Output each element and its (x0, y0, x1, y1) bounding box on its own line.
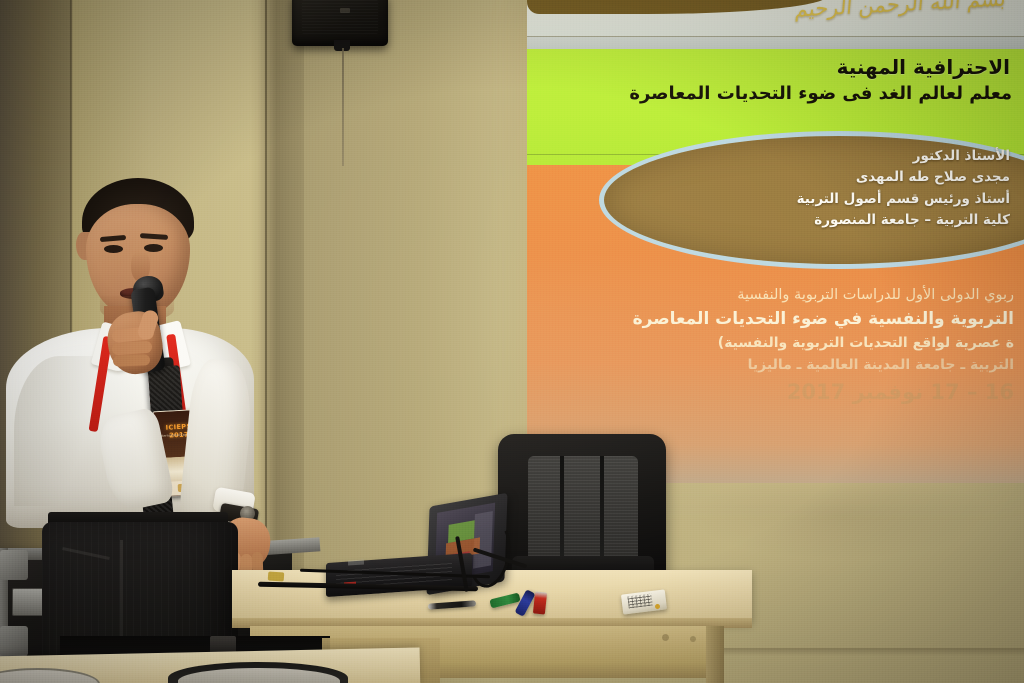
conference-banner-text: ربوي الدولى الأول للدراسات التربوية والن… (527, 284, 1014, 409)
office-chair-mesh-panel (528, 456, 638, 562)
slide-subtitle: معلم لعالم الغد فى ضوء التحديات المعاصرة (527, 82, 1012, 105)
banner-line-2: التربوية والنفسية في ضوء التحديات المعاص… (527, 306, 1014, 332)
speaker-eye-left (104, 245, 123, 253)
office-chair-rib-right (600, 456, 604, 562)
projection-screen: بسم الله الرحمن الرحيم الاحترافية المهني… (527, 0, 1024, 483)
red-lighter (533, 591, 547, 614)
office-chair-rib-left (560, 456, 564, 562)
slide-calligraphy: بسم الله الرحمن الرحيم (794, 0, 1007, 22)
presenter-honorific: الأستاذ الدكتور (680, 146, 1010, 167)
cable-connector (268, 571, 285, 581)
banner-line-1: ربوي الدولى الأول للدراسات التربوية والن… (527, 284, 1014, 306)
speaker-finger (113, 354, 150, 366)
presenter-role: أستاذ ورئيس قسم أصول التربية (680, 189, 1010, 210)
slide-title: الاحترافية المهنية (533, 54, 1010, 80)
speaker-eye-right (144, 244, 163, 252)
slide-header-band: بسم الله الرحمن الرحيم (527, 0, 1024, 40)
loudspeaker-grill (302, 0, 378, 34)
loudspeaker-badge (340, 8, 350, 13)
presenter-affiliation: كلية التربية – جامعة المنصورة (680, 210, 1010, 231)
banner-line-3: ة عصرية لواقع التحديات التربوية والنفسية… (527, 333, 1014, 355)
desk-leg (706, 626, 724, 683)
desk-fastener (662, 634, 669, 641)
desk-fastener (690, 636, 696, 642)
presentation-photo: بسم الله الرحمن الرحيم الاحترافية المهني… (0, 0, 1024, 683)
slide-grey-band (527, 37, 1024, 49)
loudspeaker-cable (342, 48, 344, 166)
wall-scuff-mark (690, 470, 990, 560)
banner-line-4: التربية ـ جامعة المدينة العالمية ـ ماليز… (527, 355, 1014, 377)
banner-date: 16 – 17 نوفمبر 2017 (527, 376, 1014, 409)
slide-header-brown-shape (527, 0, 827, 14)
slide-presenter-block: الأستاذ الدكتور مجدى صلاح طه المهدى أستا… (680, 146, 1010, 231)
presenter-name: مجدى صلاح طه المهدى (680, 167, 1010, 188)
